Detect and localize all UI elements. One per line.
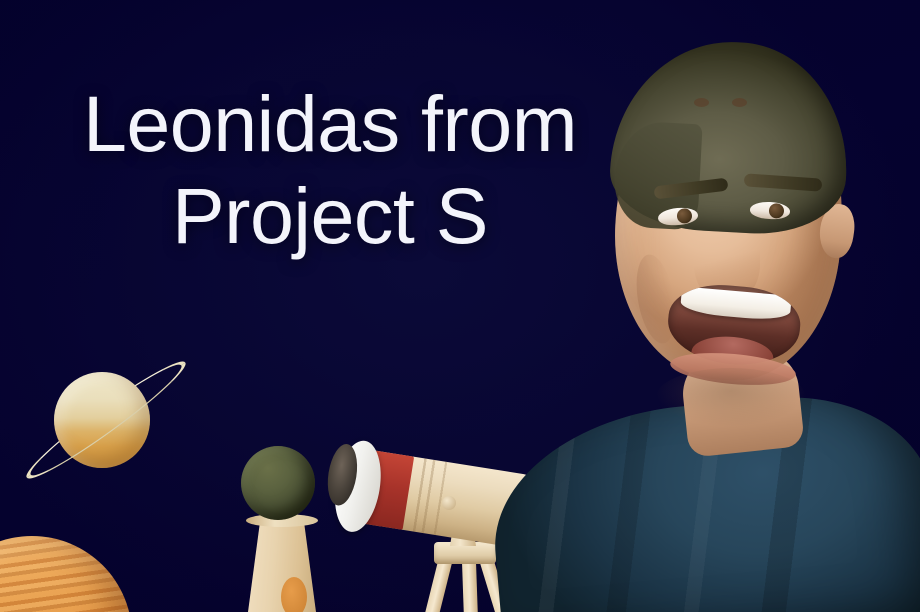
person-nostril-right	[732, 98, 747, 107]
title-line-1: Leonidas from	[0, 78, 660, 170]
person-iris-right	[769, 203, 785, 219]
telescope-focus-knob	[442, 496, 456, 510]
tripod-leg-center	[462, 562, 479, 612]
title-overlay: Leonidas from Project S	[0, 78, 660, 262]
title-line-2: Project S	[0, 170, 660, 262]
saturn-planet	[14, 344, 194, 496]
person-iris-left	[677, 208, 693, 224]
globe-stand-cone	[248, 520, 316, 612]
person-nostril-left	[694, 98, 709, 107]
green-globe-sphere	[241, 446, 315, 520]
person-chin-shadow	[656, 368, 806, 426]
green-globe-on-stand	[228, 446, 336, 612]
thumbnail-canvas: Leonidas from Project S	[0, 0, 920, 612]
tripod-leg-left	[415, 560, 451, 612]
telescope-lens-glass	[324, 442, 361, 508]
